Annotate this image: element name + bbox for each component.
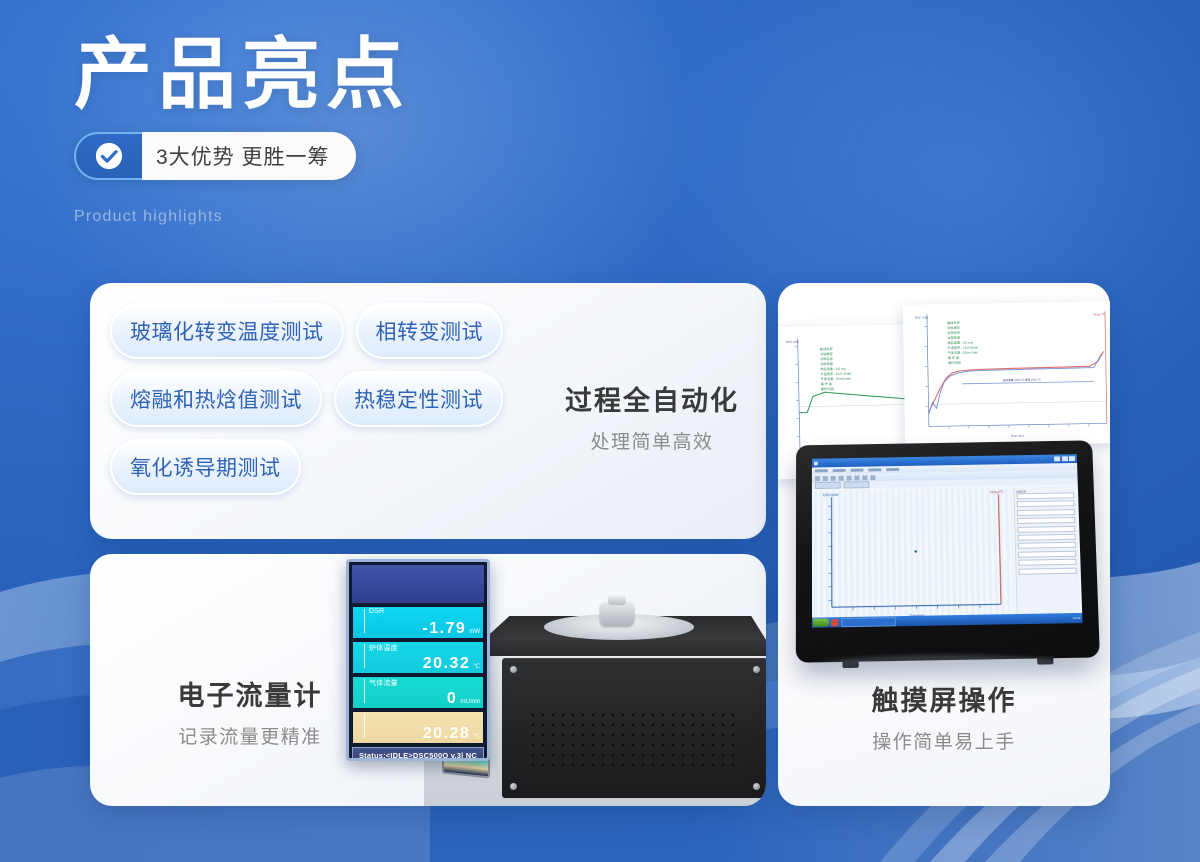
dsc-furnace-knob [600, 602, 634, 626]
svg-text:试样质量: 试样质量 [947, 335, 961, 340]
dsc-screw [753, 666, 760, 673]
panel-row-tick [364, 714, 365, 738]
features-subheading: 处理简单高效 [562, 427, 742, 454]
svg-text:操 作 者: 操 作 者 [821, 381, 833, 386]
svg-text:气体流量 : 50 mL/min: 气体流量 : 50 mL/min [948, 350, 979, 356]
app-field[interactable] [1018, 559, 1076, 566]
feature-pill-row: 玻璃化转变温度测试 相转变测试 [110, 303, 570, 359]
page-header: 产品亮点 3大优势 更胜一筹 Product highlights [74, 36, 774, 226]
dsc-screw [510, 783, 517, 790]
svg-text:试验编号: 试验编号 [947, 325, 960, 330]
svg-text:操 作 者: 操 作 者 [948, 355, 960, 360]
touchscreen-subheading: 操作简单易上手 [778, 727, 1110, 754]
page-subtitle: Product highlights [74, 208, 774, 226]
touchscreen-caption: 触摸屏操作 操作简单易上手 [778, 679, 1110, 754]
features-heading: 过程全自动化 [562, 379, 742, 418]
monitor-bezel: DSC/mW Temp/℃ Time/min 曲线名称 [796, 440, 1100, 662]
panel-top-bar [352, 565, 484, 603]
features-caption: 过程全自动化 处理简单高效 [562, 379, 742, 454]
svg-text:DSC /mW: DSC /mW [786, 340, 800, 344]
app-field[interactable] [1018, 534, 1076, 541]
monitor-screen[interactable]: DSC/mW Temp/℃ Time/min 曲线名称 [812, 454, 1083, 628]
svg-text:起始温度 158.4 ℃ 峰值 163.2 ℃: 起始温度 158.4 ℃ 峰值 163.2 ℃ [1003, 377, 1041, 382]
panel-row-label: DSR [369, 608, 384, 615]
app-icon [814, 461, 818, 465]
dsc-screw [510, 666, 517, 673]
svg-text:样品皿重 : 0.0 mg: 样品皿重 : 0.0 mg [947, 340, 972, 345]
panel-row: 气体流量 0 mL/min [352, 676, 484, 709]
start-button-icon[interactable] [813, 618, 829, 626]
app-field[interactable] [1017, 501, 1075, 508]
app-plot-area[interactable]: DSC/mW Temp/℃ Time/min [814, 488, 1015, 626]
svg-text:Time /min: Time /min [1011, 434, 1024, 438]
svg-text:DSC/mW: DSC/mW [823, 493, 839, 497]
svg-text:试样名称: 试样名称 [820, 356, 834, 361]
window-controls[interactable] [1054, 456, 1075, 461]
svg-text:升温速率 : 10.0 K/min: 升温速率 : 10.0 K/min [820, 371, 851, 377]
check-circle-icon [94, 141, 124, 171]
svg-text:试样名称: 试样名称 [947, 330, 961, 335]
app-field[interactable] [1017, 525, 1075, 532]
panel-row-unit: ℃ [473, 663, 480, 670]
svg-text:曲线名称: 曲线名称 [820, 346, 834, 351]
instrument-display-panel[interactable]: DSR -1.79 mW 炉体温度 20.32 ℃ 气体流量 0 mL/min … [346, 559, 490, 761]
feature-pill-row: 氧化诱导期测试 [110, 439, 570, 495]
app-body: DSC/mW Temp/℃ Time/min 曲线名称 [812, 484, 1083, 627]
app-parameter-panel[interactable]: 曲线名称 [1013, 486, 1080, 622]
panel-row-unit: mL/min [460, 699, 480, 705]
page-title: 产品亮点 [74, 36, 774, 114]
dsc-front-panel [502, 658, 766, 798]
panel-row-value: -1.79 [422, 621, 466, 637]
feature-pill-group: 玻璃化转变温度测试 相转变测试 熔融和热焓值测试 热稳定性测试 氧化诱导期测试 [110, 303, 570, 507]
panel-row-unit: mW [469, 629, 480, 635]
app-field[interactable] [1017, 517, 1075, 524]
taskbar-task-button[interactable] [841, 617, 896, 627]
highlight-badge: 3大优势 更胜一筹 [74, 132, 356, 180]
panel-row: DSR -1.79 mW [352, 606, 484, 639]
svg-text:试样质量: 试样质量 [820, 361, 834, 366]
card-touchscreen: 曲线名称试验编号 试样名称试样质量 样品皿重 : 0.0 mg升温速率 : 10… [778, 283, 1110, 806]
panel-row-tick [364, 679, 365, 703]
panel-row-label: 气体流量 [369, 678, 398, 688]
panel-row-value: 20.28 [423, 726, 471, 742]
svg-text:操作日期: 操作日期 [948, 360, 961, 365]
app-field[interactable] [1018, 567, 1076, 574]
feature-pill-row: 熔融和热焓值测试 热稳定性测试 [110, 371, 570, 427]
svg-text:Temp /℃: Temp /℃ [1093, 312, 1106, 316]
svg-text:操作日期: 操作日期 [821, 386, 834, 391]
panel-row-value: 20.32 [423, 656, 471, 672]
svg-text:DSC /mW: DSC /mW [915, 315, 929, 319]
panel-row: 炉体温度 20.32 ℃ [352, 641, 484, 674]
svg-text:气体流量 : 50 mL/min: 气体流量 : 50 mL/min [820, 376, 851, 382]
app-field[interactable] [1018, 542, 1076, 549]
badge-icon-cap [74, 132, 142, 180]
panel-row-tick [364, 644, 365, 668]
feature-pill[interactable]: 氧化诱导期测试 [110, 439, 301, 495]
touchscreen-heading: 触摸屏操作 [778, 679, 1110, 718]
panel-row-unit: ℃ [473, 733, 480, 740]
panel-row-label: 炉体温度 [369, 643, 398, 653]
system-tray-clock: 13:09 [1073, 616, 1081, 620]
app-field[interactable] [1018, 550, 1076, 557]
badge-label: 3大优势 更胜一筹 [142, 132, 356, 180]
dsc-vent-holes [528, 710, 738, 772]
touchscreen-monitor-photo: DSC/mW Temp/℃ Time/min 曲线名称 [796, 441, 1096, 659]
app-field[interactable] [1017, 509, 1075, 516]
svg-text:升温速率 : 10.0 K/min: 升温速率 : 10.0 K/min [947, 345, 978, 351]
svg-text:试验编号: 试验编号 [820, 351, 833, 356]
feature-pill[interactable]: 相转变测试 [356, 303, 504, 359]
card-features: 玻璃化转变温度测试 相转变测试 熔融和热焓值测试 热稳定性测试 氧化诱导期测试 … [90, 283, 766, 539]
panel-row-value: 0 [447, 691, 457, 707]
panel-row-tick [364, 609, 365, 633]
svg-text:样品皿重 : 0.0 mg: 样品皿重 : 0.0 mg [820, 366, 845, 372]
quicklaunch-icon[interactable] [831, 619, 838, 626]
panel-row-label: 环境温度 [369, 713, 398, 723]
app-field[interactable] [1017, 492, 1075, 499]
svg-text:Temp/℃: Temp/℃ [990, 490, 1004, 494]
chart-printout-front: 起始温度 158.4 ℃ 峰值 163.2 ℃ 曲线名称试验编号 试样名称试样质… [903, 301, 1110, 447]
svg-text:曲线名称: 曲线名称 [947, 320, 961, 325]
feature-pill[interactable]: 玻璃化转变温度测试 [110, 303, 344, 359]
dsc-screw [753, 783, 760, 790]
panel-status-bar: Status:<IDLE>DSC500Q v.3| NC [352, 747, 484, 761]
monitor-reflection [808, 655, 1084, 681]
feature-pill[interactable]: 热稳定性测试 [334, 371, 503, 427]
panel-row: 环境温度 20.28 ℃ [352, 711, 484, 744]
feature-pill[interactable]: 熔融和热焓值测试 [110, 371, 322, 427]
panel-readout-rows: DSR -1.79 mW 炉体温度 20.32 ℃ 气体流量 0 mL/min … [349, 606, 487, 744]
